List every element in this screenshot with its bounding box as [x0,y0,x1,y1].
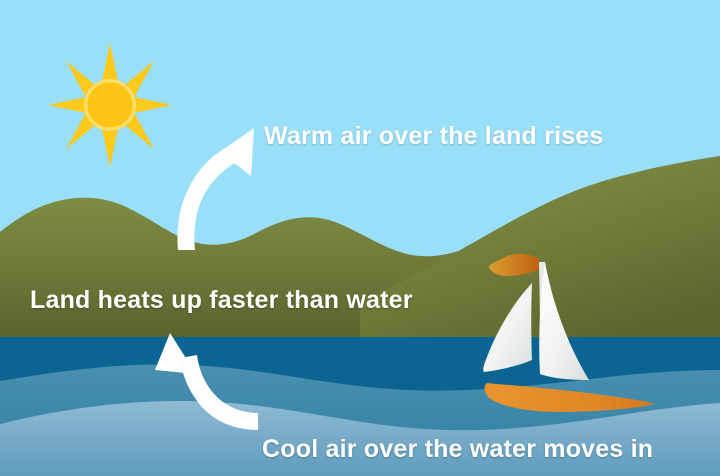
caption-cool-air: Cool air over the water moves in [262,437,653,462]
caption-land-heats: Land heats up faster than water [30,288,413,313]
caption-warm-air: Warm air over the land rises [264,124,604,149]
diagram-canvas [0,0,720,476]
sea-breeze-diagram: Warm air over the land rises Land heats … [0,0,720,476]
sun-icon [48,43,172,167]
